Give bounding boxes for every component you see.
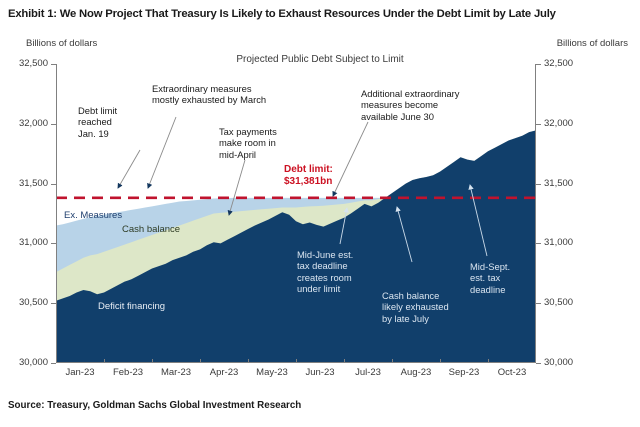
series-label-deficit-financing: Deficit financing xyxy=(98,301,165,312)
y-tick xyxy=(536,184,541,185)
x-tick-label: Jul-23 xyxy=(355,367,381,378)
exhibit-title: Exhibit 1: We Now Project That Treasury … xyxy=(8,8,634,20)
x-tick-label: Oct-23 xyxy=(498,367,527,378)
y-tick xyxy=(536,303,541,304)
y-tick xyxy=(536,64,541,65)
y-tick-label: 31,000 xyxy=(544,237,590,248)
x-tick-label: Jun-23 xyxy=(305,367,334,378)
right-axis-unit: Billions of dollars xyxy=(557,38,628,49)
x-tick-label: Jan-23 xyxy=(65,367,94,378)
y-tick-label: 32,000 xyxy=(2,118,48,129)
x-tick xyxy=(392,359,393,363)
x-tick xyxy=(344,359,345,363)
x-tick xyxy=(296,359,297,363)
y-tick xyxy=(51,303,56,304)
series-label-cash-balance: Cash balance xyxy=(122,224,180,235)
y-tick-label: 31,500 xyxy=(544,178,590,189)
annotation-debt-limit-reached: Debt limit reached Jan. 19 xyxy=(78,105,117,139)
y-tick-label: 30,000 xyxy=(2,357,48,368)
x-tick-label: Feb-23 xyxy=(113,367,143,378)
y-tick-label: 30,500 xyxy=(2,297,48,308)
left-axis-unit: Billions of dollars xyxy=(26,38,97,49)
y-tick-label: 31,500 xyxy=(2,178,48,189)
annotation-mid-june: Mid-June est. tax deadline creates room … xyxy=(297,249,353,295)
source-note: Source: Treasury, Goldman Sachs Global I… xyxy=(8,400,301,411)
plot-area: 30,00030,00030,50030,50031,00031,00031,5… xyxy=(56,64,536,363)
x-tick xyxy=(488,359,489,363)
x-tick-label: Mar-23 xyxy=(161,367,191,378)
annotation-debt-limit-value: Debt limit: $31,381bn xyxy=(284,164,333,188)
y-axis-right xyxy=(535,64,536,363)
x-tick-label: Aug-23 xyxy=(401,367,432,378)
y-axis-left xyxy=(56,64,57,363)
x-tick xyxy=(152,359,153,363)
y-tick-label: 30,500 xyxy=(544,297,590,308)
x-tick xyxy=(200,359,201,363)
y-tick-label: 32,000 xyxy=(544,118,590,129)
annotation-extraordinary-measures: Extraordinary measures mostly exhausted … xyxy=(152,83,266,106)
x-tick xyxy=(56,359,57,363)
x-tick-label: May-23 xyxy=(256,367,288,378)
annotation-mid-sept: Mid-Sept. est. tax deadline xyxy=(470,261,510,295)
y-tick-label: 30,000 xyxy=(544,357,590,368)
y-tick xyxy=(51,243,56,244)
annotation-additional-measures: Additional extraordinary measures become… xyxy=(361,88,460,122)
y-tick xyxy=(536,124,541,125)
y-tick xyxy=(51,124,56,125)
y-tick-label: 32,500 xyxy=(2,58,48,69)
y-tick xyxy=(51,64,56,65)
x-tick xyxy=(104,359,105,363)
y-tick xyxy=(536,243,541,244)
x-tick-label: Apr-23 xyxy=(210,367,239,378)
x-tick xyxy=(248,359,249,363)
x-tick-label: Sep-23 xyxy=(449,367,480,378)
y-tick-label: 31,000 xyxy=(2,237,48,248)
annotation-cash-exhausted: Cash balance likely exhausted by late Ju… xyxy=(382,290,449,324)
y-tick xyxy=(51,363,56,364)
y-tick-label: 32,500 xyxy=(544,58,590,69)
x-tick xyxy=(440,359,441,363)
y-tick xyxy=(51,184,56,185)
y-tick xyxy=(536,363,541,364)
series-label-ex-measures: Ex. Measures xyxy=(64,210,122,221)
stacked-area-series xyxy=(56,64,536,363)
annotation-tax-payments: Tax payments make room in mid-April xyxy=(219,126,277,160)
